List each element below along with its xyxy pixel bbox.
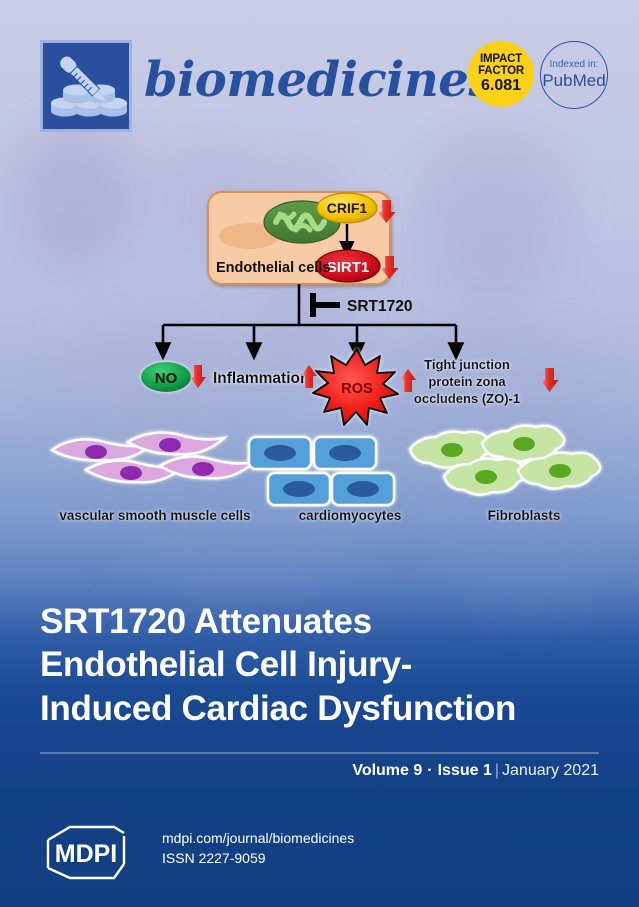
article-title: SRT1720 Attenuates Endothelial Cell Inju… <box>40 600 600 730</box>
srt1720-inhibition: SRT1720 <box>312 293 412 317</box>
endothelial-cell-box: CRIF1 SIRT1 Endothelial cells <box>208 192 399 284</box>
indexed-in-badge: Indexed in: PubMed <box>540 41 608 109</box>
mdpi-logo-icon: MDPI <box>40 824 132 880</box>
journal-url[interactable]: mdpi.com/journal/biomedicines <box>162 828 354 848</box>
article-title-line-1: SRT1720 Attenuates <box>40 600 600 643</box>
impact-factor-line2: FACTOR <box>478 66 524 78</box>
svg-text:MDPI: MDPI <box>55 840 118 868</box>
volume-issue-line: Volume 9·Issue 1|January 2021 <box>352 762 599 780</box>
issue-separator: | <box>492 762 502 779</box>
fibroblasts-illustration <box>410 426 600 495</box>
journal-title: biomedicines <box>144 52 495 108</box>
indexed-database: PubMed <box>542 72 605 90</box>
cover-footer: MDPI mdpi.com/journal/biomedicines ISSN … <box>40 824 600 882</box>
journal-logo-icon <box>40 40 132 132</box>
outcome-no: NO <box>141 362 206 392</box>
caption-vascular-smooth-muscle-cells: vascular smooth muscle cells <box>59 508 250 523</box>
svg-text:occludens (ZO)-1: occludens (ZO)-1 <box>414 391 520 406</box>
issue-date: January 2021 <box>502 762 599 779</box>
indexed-prefix: Indexed in: <box>550 60 599 71</box>
crif1-node: CRIF1 <box>317 193 377 223</box>
svg-text:SIRT1: SIRT1 <box>327 259 370 276</box>
svg-text:Inflammation: Inflammation <box>213 370 309 387</box>
impact-factor-value: 6.081 <box>481 78 521 94</box>
title-divider <box>40 752 599 754</box>
svg-text:NO: NO <box>155 370 178 387</box>
volume-label: Volume 9 <box>352 762 422 779</box>
cardiomyocytes-illustration <box>249 437 394 505</box>
impact-factor-line1: IMPACT <box>480 54 522 66</box>
outcome-inflammation: Inflammation <box>213 365 317 388</box>
svg-text:protein zona: protein zona <box>428 374 506 389</box>
volume-issue-dot: · <box>422 762 437 779</box>
article-title-line-3: Induced Cardiac Dysfunction <box>40 687 600 730</box>
issue-label: Issue 1 <box>438 762 492 779</box>
vascular-smooth-muscle-cells-illustration <box>52 433 254 483</box>
outcome-zo1: Tight junction protein zona occludens (Z… <box>414 357 520 406</box>
svg-text:ROS: ROS <box>341 381 373 397</box>
caption-cardiomyocytes: cardiomyocytes <box>299 508 402 523</box>
cover-header: biomedicines IMPACT FACTOR 6.081 Indexed… <box>0 0 639 150</box>
journal-issn: ISSN 2227-9059 <box>162 848 354 868</box>
svg-text:SRT1720: SRT1720 <box>347 298 412 315</box>
caption-fibroblasts: Fibroblasts <box>488 508 561 523</box>
outcome-ros: ROS <box>313 349 416 425</box>
no-down-arrow-icon <box>190 365 206 388</box>
ros-up-arrow-icon <box>400 369 416 392</box>
cover-figure: CRIF1 SIRT1 Endothelial cells <box>0 160 639 560</box>
svg-text:Endothelial cells: Endothelial cells <box>216 260 330 276</box>
impact-factor-badge: IMPACT FACTOR 6.081 <box>468 41 534 107</box>
zo1-down-arrow-icon <box>541 368 559 392</box>
article-title-line-2: Endothelial Cell Injury- <box>40 643 600 686</box>
svg-text:Tight junction: Tight junction <box>424 357 510 372</box>
journal-cover: biomedicines IMPACT FACTOR 6.081 Indexed… <box>0 0 639 907</box>
svg-text:CRIF1: CRIF1 <box>327 200 368 216</box>
